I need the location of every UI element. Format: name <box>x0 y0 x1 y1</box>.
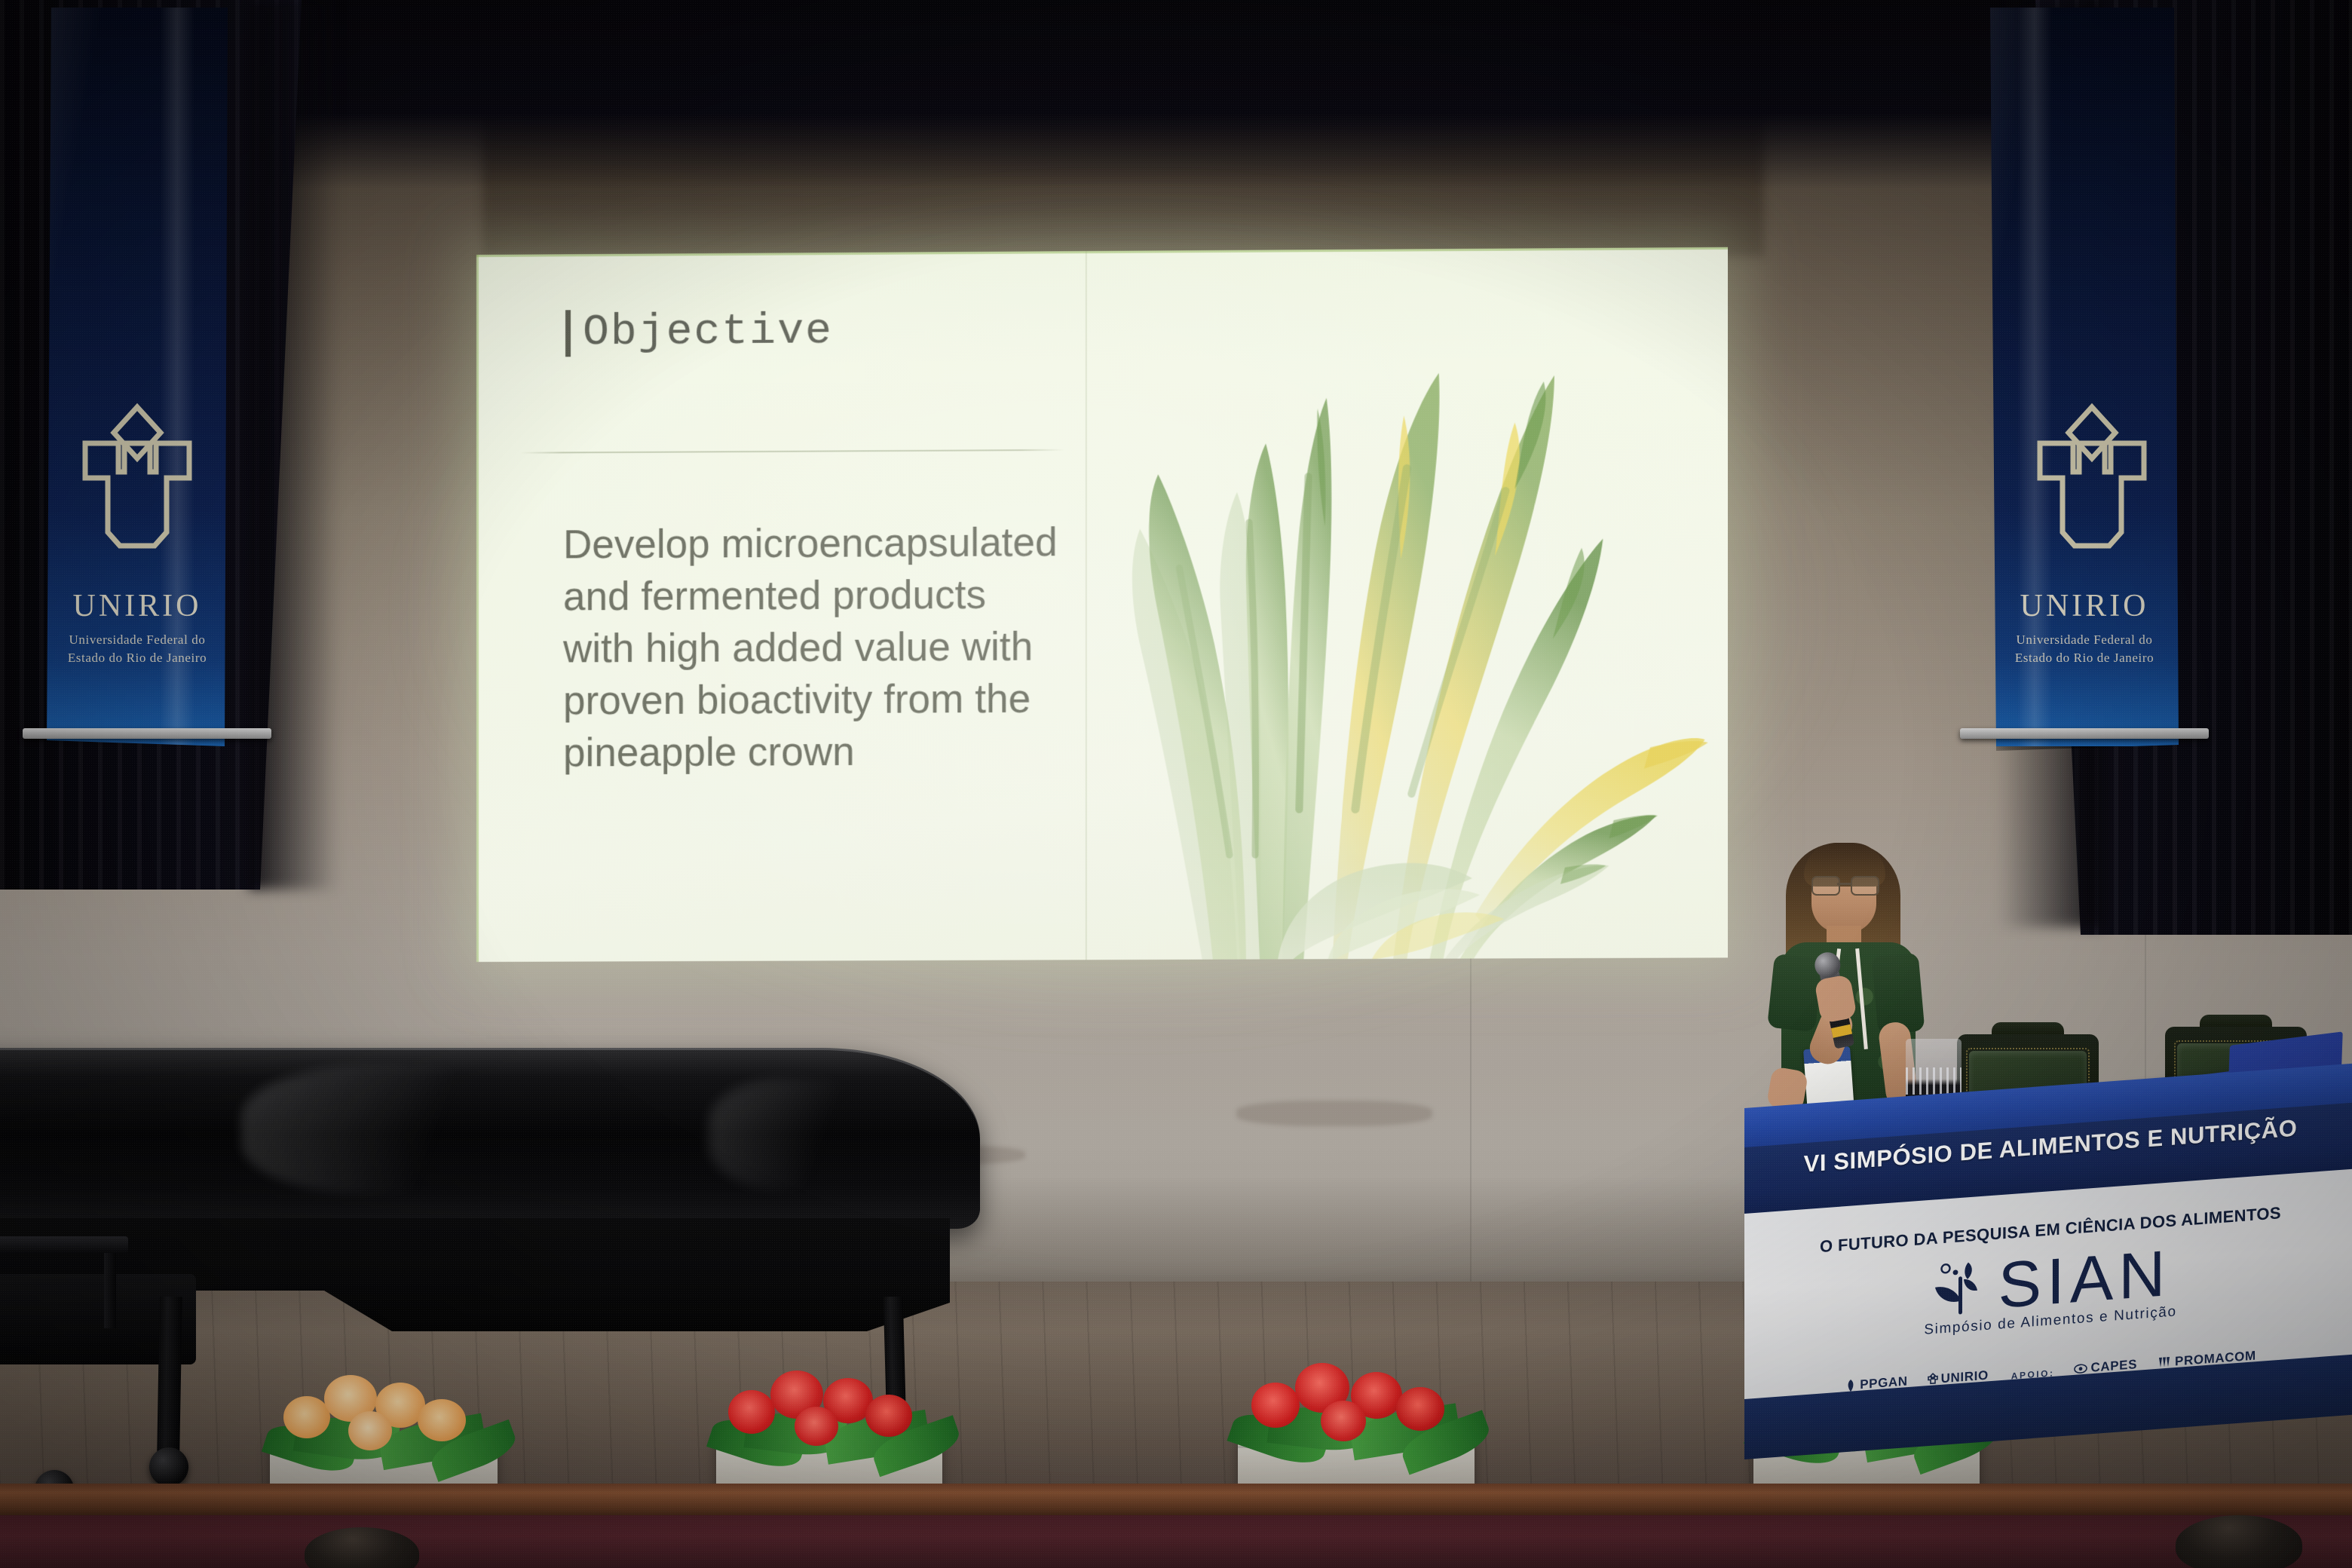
slide-edge <box>476 255 479 962</box>
piano-lid-highlight <box>241 1066 558 1194</box>
slide-divider-rule <box>520 449 1064 454</box>
flower-bloom <box>283 1396 330 1438</box>
flower-bloom <box>1321 1401 1366 1441</box>
banner-rod-left <box>23 728 271 739</box>
unirio-banner-left: UNIRIO Universidade Federal do Estado do… <box>47 8 228 746</box>
stage-lip <box>0 1484 2352 1518</box>
glasses-icon <box>1811 876 1876 893</box>
piano-caster <box>149 1447 188 1487</box>
projected-slide: Objective Develop microencapsulated and … <box>476 247 1728 962</box>
unirio-wordmark: UNIRIO <box>47 588 228 624</box>
flower-bloom <box>1251 1383 1300 1428</box>
unirio-logo-icon <box>2020 400 2164 584</box>
flower-planter <box>1238 1349 1475 1506</box>
slide-title-group: Objective <box>565 307 833 357</box>
flower-bloom <box>1396 1387 1444 1431</box>
microphone-band <box>1831 1024 1852 1038</box>
flower-bloom <box>348 1411 392 1450</box>
auditorium-photo: UNIRIO Universidade Federal do Estado do… <box>0 0 2352 1568</box>
piano-lid-highlight <box>709 1078 905 1191</box>
flower-bloom <box>728 1390 775 1434</box>
slide-title: Objective <box>583 307 833 357</box>
banner-rod-right <box>1960 728 2209 739</box>
audience-head <box>2176 1515 2302 1568</box>
piano-leg <box>157 1297 182 1455</box>
unirio-subtitle-line1: Universidade Federal do <box>47 632 228 648</box>
dispenser-lace-cover <box>1906 1067 1962 1095</box>
wall-scuff <box>1236 1101 1432 1126</box>
title-accent-bar <box>565 310 571 357</box>
slide-body-text: Develop microencapsulated and fermented … <box>563 517 1062 779</box>
piano-bench <box>0 1236 128 1327</box>
sian-leaf-icon <box>1931 1254 1994 1323</box>
flower-bloom <box>795 1407 838 1446</box>
unirio-logo-icon <box>66 400 209 584</box>
unirio-banner-right: UNIRIO Universidade Federal do Estado do… <box>1990 8 2179 746</box>
unirio-subtitle-line2: Estado do Rio de Janeiro <box>47 650 228 666</box>
pineapple-crown-artwork <box>1081 247 1728 960</box>
unirio-subtitle-line1: Universidade Federal do <box>1990 632 2179 648</box>
flower-bloom <box>418 1399 466 1441</box>
head-table: VI SIMPÓSIO DE ALIMENTOS E NUTRIÇÃO O FU… <box>1749 1108 2352 1462</box>
unirio-wordmark: UNIRIO <box>1990 588 2179 624</box>
flower-bloom <box>865 1395 912 1437</box>
curtain-shadow-left <box>249 0 339 890</box>
unirio-subtitle-line2: Estado do Rio de Janeiro <box>1990 650 2179 666</box>
screen-panel-seam <box>1086 251 1087 960</box>
